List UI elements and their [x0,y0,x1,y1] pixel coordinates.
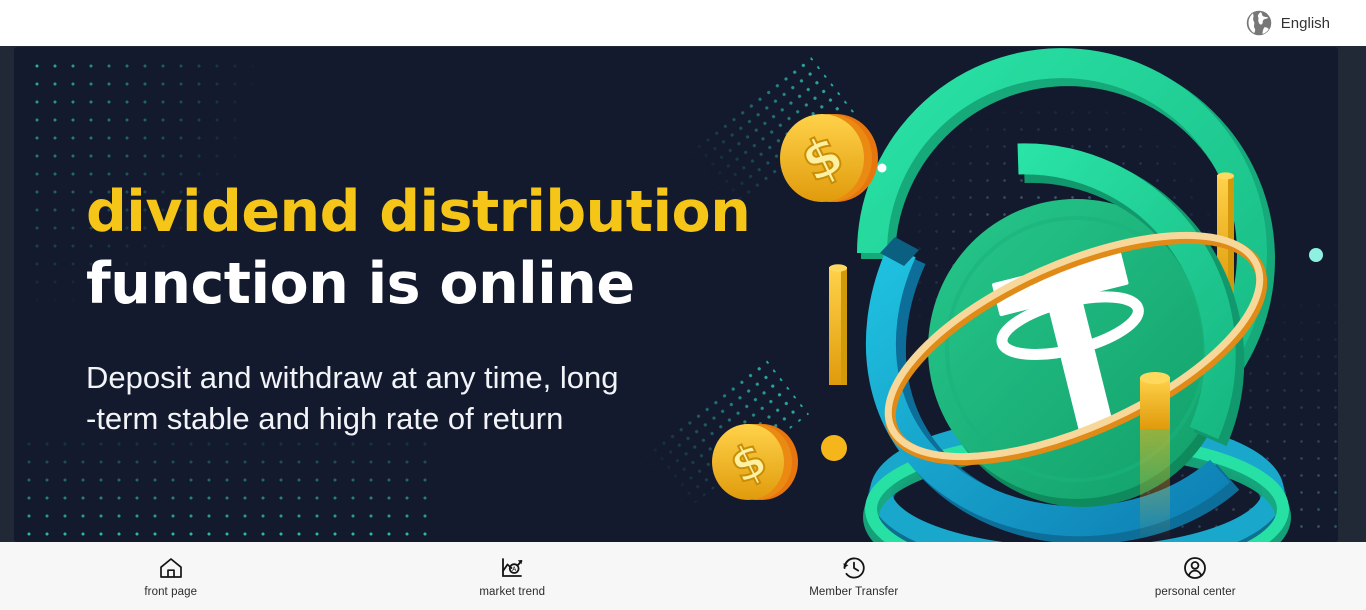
nav-item-member-transfer[interactable]: Member Transfer [683,542,1025,610]
nav-label-front-page: front page [144,586,197,598]
banner-headline: dividend distribution function is online [86,177,786,321]
bottom-navigation: front page A market trend Member Transfe… [0,542,1366,610]
banner-copy: dividend distribution function is online… [86,177,786,439]
top-header: English [0,0,1366,46]
nav-item-market-trend[interactable]: A market trend [342,542,684,610]
dollar-coin-upper: $ [780,114,878,202]
home-icon [158,555,184,581]
dot-white-small [878,164,887,173]
user-circle-icon [1182,555,1208,581]
nav-item-front-page[interactable]: front page [0,542,342,610]
nav-label-market-trend: market trend [479,586,545,598]
market-trend-icon: A [499,555,525,581]
banner-subtext: Deposit and withdraw at any time, long -… [86,357,786,439]
nav-item-personal-center[interactable]: personal center [1025,542,1366,610]
hero-banner: $ $ dividend distribution function is on… [14,47,1338,542]
headline-line-2: function is online [86,249,786,321]
subtext-line-1: Deposit and withdraw at any time, long [86,357,786,398]
bar-gold-center [1140,372,1170,542]
headline-line-1: dividend distribution [86,177,786,249]
language-label: English [1281,15,1330,32]
nav-label-personal-center: personal center [1155,586,1236,598]
bar-gold-left [829,264,847,385]
nav-label-member-transfer: Member Transfer [809,586,898,598]
language-selector[interactable]: English [1245,9,1330,37]
dot-gold-small [821,435,847,461]
dot-cyan-small [1309,248,1323,262]
globe-icon [1245,9,1273,37]
subtext-line-2: -term stable and high rate of return [86,398,786,439]
history-clock-icon [841,555,867,581]
